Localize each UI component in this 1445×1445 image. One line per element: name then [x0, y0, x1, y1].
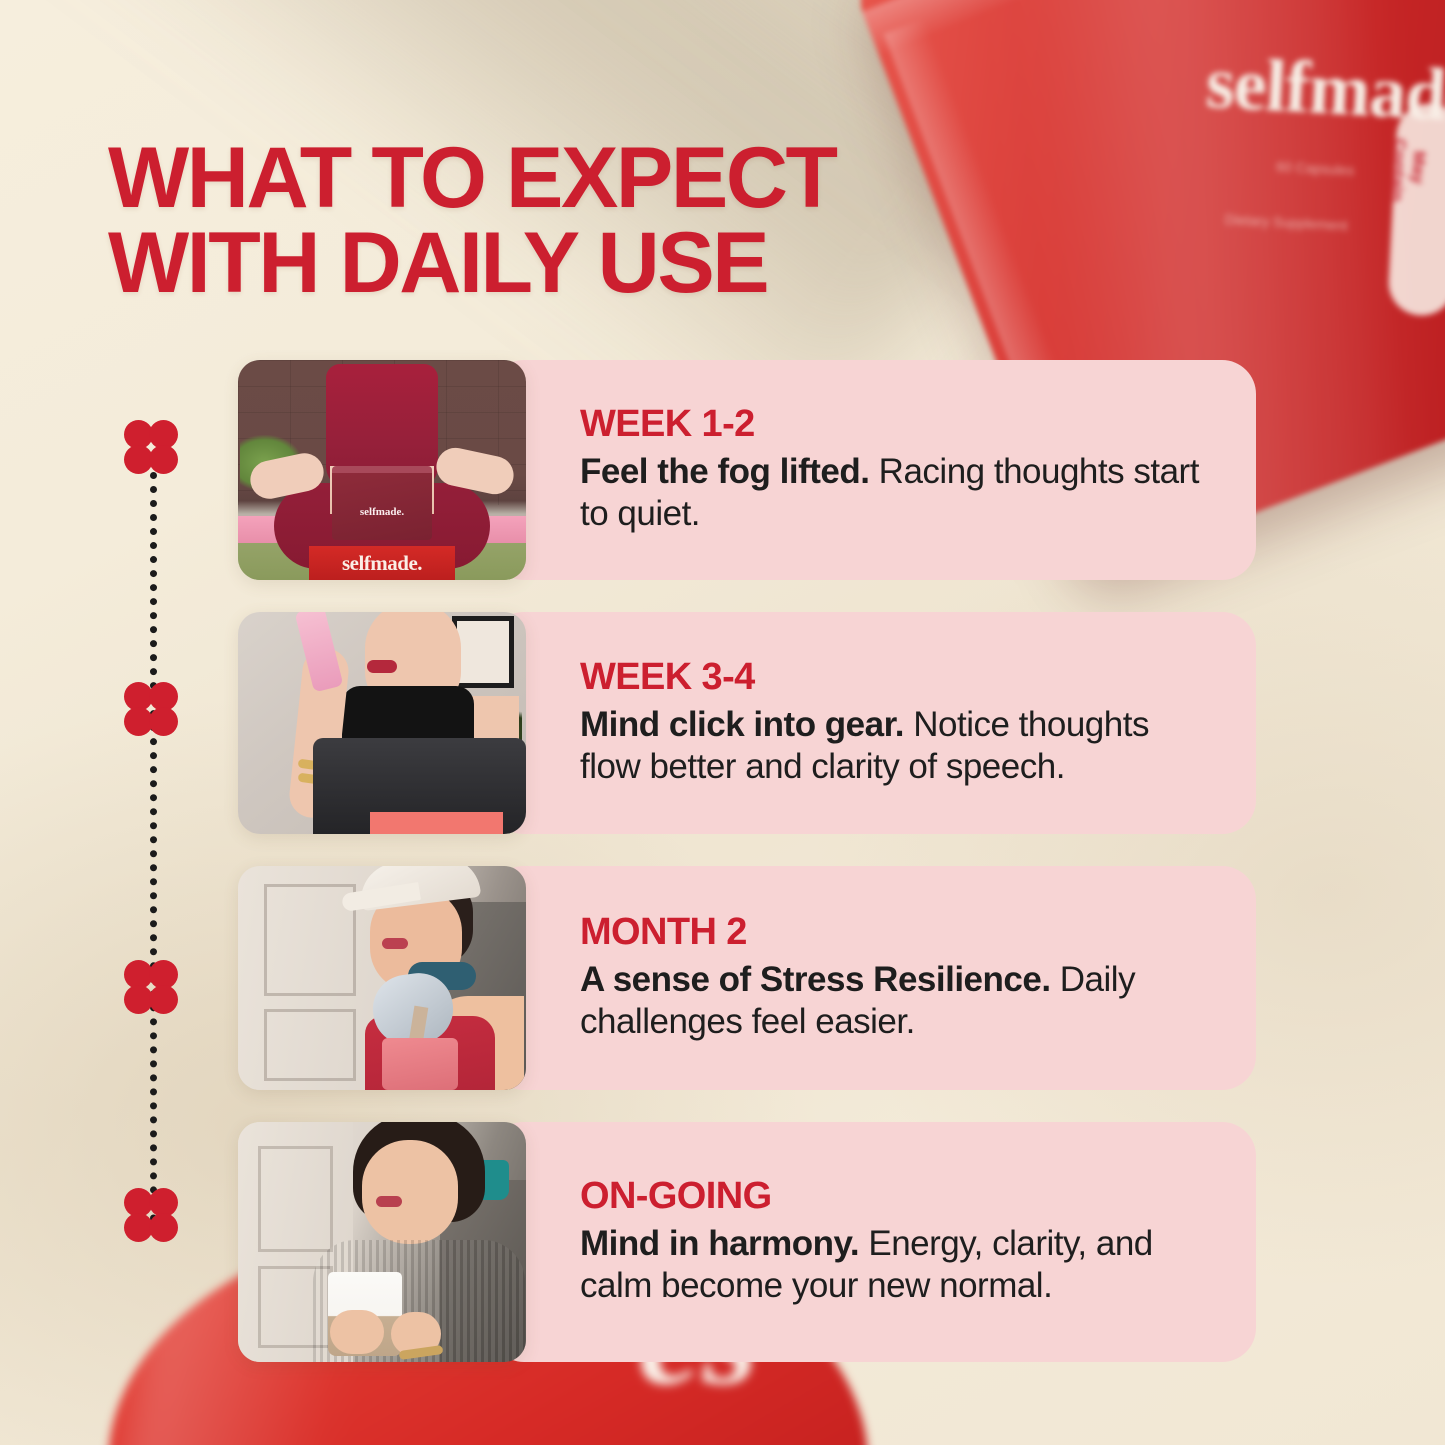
- photo-pouch-label: selfmade.: [332, 506, 432, 518]
- page-title-line-1: WHAT TO EXPECT: [108, 136, 836, 221]
- row-thumbnail-on-going: [238, 1122, 526, 1362]
- timeline-row: MONTH 2 A sense of Stress Resilience. Da…: [238, 866, 1256, 1090]
- timeline-row: ON-GOING Mind in harmony. Energy, clarit…: [238, 1122, 1256, 1362]
- card-eyebrow: WEEK 3-4: [580, 658, 1216, 698]
- card-eyebrow: ON-GOING: [580, 1177, 1216, 1217]
- four-petal-clover-icon: [124, 960, 178, 1014]
- card-description: Mind in harmony. Energy, clarity, and ca…: [580, 1223, 1216, 1308]
- card-description: A sense of Stress Resilience. Daily chal…: [580, 959, 1216, 1044]
- timeline-card-month-2: MONTH 2 A sense of Stress Resilience. Da…: [490, 866, 1256, 1090]
- four-petal-clover-icon: [124, 1188, 178, 1242]
- row-thumbnail-week-3-4: [238, 612, 526, 834]
- card-eyebrow: WEEK 1-2: [580, 405, 1216, 445]
- product-box-pill-label: May Contain: [1387, 138, 1430, 196]
- card-description: Mind click into gear. Notice thoughts fl…: [580, 704, 1216, 789]
- card-description-bold: A sense of Stress Resilience.: [580, 960, 1051, 999]
- timeline-dotted-connector: [150, 458, 157, 1236]
- card-description-bold: Feel the fog lifted.: [580, 452, 869, 491]
- timeline-row: WEEK 3-4 Mind click into gear. Notice th…: [238, 612, 1256, 834]
- card-description-bold: Mind in harmony.: [580, 1224, 859, 1263]
- timeline-card-week-1-2: WEEK 1-2 Feel the fog lifted. Racing tho…: [490, 360, 1256, 580]
- row-thumbnail-week-1-2: selfmade. selfmade.: [238, 360, 526, 580]
- card-description: Feel the fog lifted. Racing thoughts sta…: [580, 451, 1216, 536]
- timeline-row: selfmade. selfmade. WEEK 1-2 Feel the fo…: [238, 360, 1256, 580]
- timeline-card-on-going: ON-GOING Mind in harmony. Energy, clarit…: [490, 1122, 1256, 1362]
- product-box-pill-badge: [1387, 102, 1445, 317]
- four-petal-clover-icon: [124, 420, 178, 474]
- card-eyebrow: MONTH 2: [580, 913, 1216, 953]
- photo-pouch: selfmade.: [332, 466, 432, 540]
- four-petal-clover-icon: [124, 682, 178, 736]
- card-description-bold: Mind click into gear.: [580, 705, 904, 744]
- photo-box-label: selfmade.: [309, 546, 455, 580]
- page-title-line-2: WITH DAILY USE: [108, 221, 836, 306]
- timeline-rail: [108, 420, 194, 1270]
- page-title: WHAT TO EXPECT WITH DAILY USE: [108, 136, 836, 306]
- row-thumbnail-month-2: [238, 866, 526, 1090]
- photo-box: selfmade.: [309, 546, 455, 580]
- timeline-card-week-3-4: WEEK 3-4 Mind click into gear. Notice th…: [490, 612, 1256, 834]
